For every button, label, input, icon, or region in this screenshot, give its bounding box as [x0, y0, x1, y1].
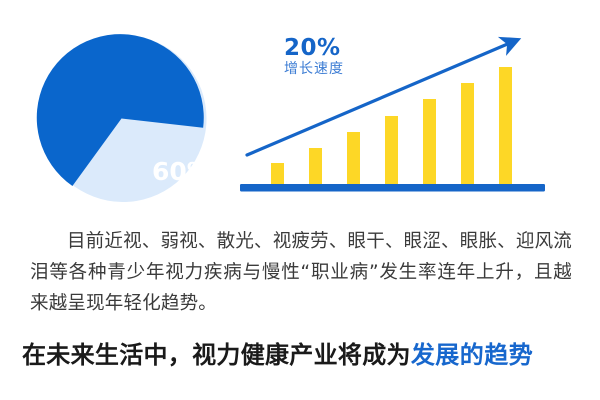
bar-7	[499, 67, 512, 184]
headline: 在未来生活中，视力健康产业将成为发展的趋势	[22, 338, 582, 372]
bar-4	[385, 116, 398, 184]
paragraph-line-1: 目前近视、弱视、散光、视疲劳、眼干、眼涩、眼胀、	[67, 231, 516, 252]
bar-1	[271, 163, 284, 184]
growth-rate-label: 20% 增长速度	[284, 36, 344, 77]
growth-subtitle: 增长速度	[284, 62, 344, 77]
growth-percentage: 20%	[284, 36, 344, 61]
bar-chart-graphic	[232, 24, 562, 204]
chart-baseline	[240, 184, 545, 192]
bar-6	[461, 83, 474, 184]
pie-percentage-label: 60%	[152, 159, 212, 184]
bar-5	[423, 99, 436, 184]
bar-2	[309, 148, 322, 184]
headline-plain-text: 在未来生活中，视力健康产业将成为	[22, 341, 411, 369]
pie-chart: 60%	[34, 31, 209, 206]
bar-3	[347, 132, 360, 184]
body-paragraph: 目前近视、弱视、散光、视疲劳、眼干、眼涩、眼胀、迎风流泪等各种青少年视力疾病与慢…	[30, 226, 572, 319]
charts-band: 60%	[0, 0, 600, 215]
headline-accent-text: 发展的趋势	[411, 341, 534, 369]
bar-chart	[232, 24, 562, 204]
infographic-root: 60%	[0, 0, 600, 400]
